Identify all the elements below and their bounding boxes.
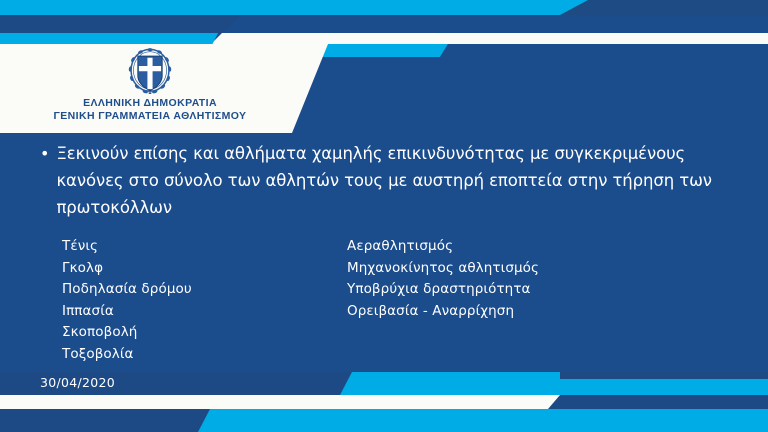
org-line-general-secretariat-sports: ΓΕΝΙΚΗ ΓΡΑΜΜΑΤΕΙΑ ΑΘΛΗΤΙΣΜΟΥ <box>54 110 247 123</box>
sports-lists: ΤένιςΓκολφΠοδηλασία δρόμουΙππασίαΣκοποβο… <box>0 236 768 365</box>
sports-list-right: ΑεραθλητισμόςΜηχανοκίνητος αθλητισμόςΥπο… <box>347 236 727 365</box>
sport-list-item: Τένις <box>62 236 347 258</box>
sport-list-item: Ποδηλασία δρόμου <box>62 279 347 301</box>
slide-content: • Ξεκινούν επίσης και αθλήματα χαμηλής ε… <box>0 140 768 380</box>
sport-list-item: Μηχανοκίνητος αθλητισμός <box>347 258 727 280</box>
logo-panel: ΕΛΛΗΝΙΚΗ ΔΗΜΟΚΡΑΤΙΑ ΓΕΝΙΚΗ ΓΡΑΜΜΑΤΕΙΑ ΑΘ… <box>0 44 300 133</box>
bottom-right-navy-cap <box>560 372 768 379</box>
sport-list-item: Ιππασία <box>62 301 347 323</box>
sport-list-item: Τοξοβολία <box>62 344 347 366</box>
main-bullet-text: Ξεκινούν επίσης και αθλήματα χαμηλής επι… <box>56 140 730 221</box>
organization-title: ΕΛΛΗΝΙΚΗ ΔΗΜΟΚΡΑΤΙΑ ΓΕΝΙΚΗ ΓΡΑΜΜΑΤΕΙΑ ΑΘ… <box>54 97 247 123</box>
greek-coat-of-arms-icon <box>128 48 172 94</box>
presentation-slide: ΕΛΛΗΝΙΚΗ ΔΗΜΟΚΡΑΤΙΑ ΓΕΝΙΚΗ ΓΡΑΜΜΑΤΕΙΑ ΑΘ… <box>0 0 768 432</box>
slide-date: 30/04/2020 <box>40 375 115 390</box>
sport-list-item: Αεραθλητισμός <box>347 236 727 258</box>
top-right-navy-band <box>560 0 768 15</box>
org-line-hellenic-republic: ΕΛΛΗΝΙΚΗ ΔΗΜΟΚΡΑΤΙΑ <box>54 97 247 110</box>
bullet-marker-icon: • <box>40 140 49 221</box>
sport-list-item: Σκοποβολή <box>62 322 347 344</box>
sports-list-left: ΤένιςΓκολφΠοδηλασία δρόμουΙππασίαΣκοποβο… <box>62 236 347 365</box>
main-bullet-item: • Ξεκινούν επίσης και αθλήματα χαμηλής ε… <box>0 140 768 221</box>
sport-list-item: Υποβρύχια δραστηριότητα <box>347 279 727 301</box>
top-left-dark-navy-band <box>0 16 240 33</box>
sport-list-item: Ορειβασία - Αναρρίχηση <box>347 301 727 323</box>
sport-list-item: Γκολφ <box>62 258 347 280</box>
